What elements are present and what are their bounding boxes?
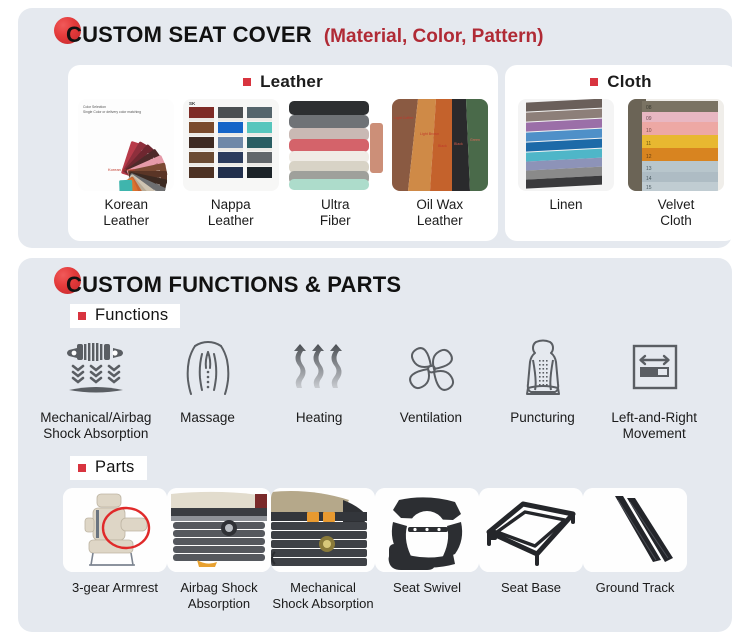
cloth-items-list: Linen 08 09 10 11 12 bbox=[505, 99, 737, 229]
functions-list: Mechanical/Airbag Shock Absorption bbox=[18, 328, 732, 442]
page-title: CUSTOM SEAT COVER bbox=[66, 22, 312, 48]
svg-text:Color Selection: Color Selection bbox=[83, 105, 106, 109]
list-item[interactable]: Linen bbox=[515, 99, 617, 229]
red-square-bullet-icon bbox=[590, 78, 598, 86]
red-square-bullet-icon bbox=[78, 464, 86, 472]
svg-text:09: 09 bbox=[646, 116, 652, 122]
function-item-heating[interactable]: Heating bbox=[263, 338, 375, 442]
leather-items-list: 01 02 03 04 05 06 07 08 09 10 13 bbox=[68, 99, 498, 229]
label-line-1: Linen bbox=[549, 197, 582, 212]
label-line-1: Ground Track bbox=[596, 580, 675, 595]
list-item-label: Oil Wax Leather bbox=[416, 197, 463, 229]
svg-text:Light Coffee: Light Coffee bbox=[394, 116, 413, 120]
custom-seat-cover-panel: CUSTOM SEAT COVER (Material, Color, Patt… bbox=[18, 8, 732, 248]
label-line-1: Airbag Shock bbox=[180, 580, 257, 595]
part-item-seat-swivel[interactable]: Seat Swivel bbox=[375, 488, 479, 611]
cloth-group-label: Cloth bbox=[607, 72, 651, 92]
label-line-2: Shock Absorption bbox=[43, 426, 148, 441]
label-line-1: Mechanical/Airbag bbox=[40, 410, 151, 425]
function-item-puncturing[interactable]: Puncturing bbox=[487, 338, 599, 442]
label-line-2: Fiber bbox=[320, 213, 351, 228]
custom-functions-parts-panel: CUSTOM FUNCTIONS & PARTS Functions bbox=[18, 258, 732, 632]
part-item-label: Mechanical Shock Absorption bbox=[272, 580, 373, 611]
label-line-1: Puncturing bbox=[510, 410, 575, 425]
nappa-leather-thumbnail[interactable]: SK bbox=[183, 99, 279, 191]
label-line-1: Left-and-Right bbox=[611, 410, 697, 425]
massage-back-icon bbox=[171, 338, 245, 400]
part-item-label: Ground Track bbox=[596, 580, 675, 596]
label-line-2: Cloth bbox=[660, 213, 692, 228]
label-line-1: Heating bbox=[296, 410, 343, 425]
list-item-label: Linen bbox=[549, 197, 582, 213]
label-line-1: Massage bbox=[180, 410, 235, 425]
function-item-label: Puncturing bbox=[510, 410, 575, 426]
label-line-1: Seat Swivel bbox=[393, 580, 461, 595]
leather-group-header: Leather bbox=[68, 65, 498, 99]
svg-text:13: 13 bbox=[646, 166, 652, 172]
fan-icon bbox=[394, 338, 468, 400]
parts-chip: Parts bbox=[70, 456, 147, 480]
label-line-1: 3-gear Armrest bbox=[72, 580, 158, 595]
shock-absorber-icon bbox=[59, 338, 133, 400]
svg-text:12: 12 bbox=[646, 154, 652, 160]
label-line-1: Oil Wax bbox=[416, 197, 463, 212]
label-line-1: Nappa bbox=[211, 197, 251, 212]
airbag-shock-thumbnail[interactable] bbox=[167, 488, 271, 572]
function-item-label: Heating bbox=[296, 410, 343, 426]
functions-label: Functions bbox=[95, 306, 168, 325]
svg-text:08: 08 bbox=[646, 105, 652, 111]
label-line-2: Leather bbox=[103, 213, 149, 228]
label-line-2: Leather bbox=[208, 213, 254, 228]
list-item-label: Velvet Cloth bbox=[658, 197, 695, 229]
svg-text:10: 10 bbox=[646, 128, 652, 134]
function-item-shock-absorption[interactable]: Mechanical/Airbag Shock Absorption bbox=[40, 338, 152, 442]
functions-chip: Functions bbox=[70, 304, 180, 328]
label-line-2: Absorption bbox=[188, 596, 250, 611]
oil-wax-leather-thumbnail[interactable]: Light Coffee Light Brown Black Black Gre… bbox=[392, 99, 488, 191]
list-item[interactable]: Ultra Fiber bbox=[284, 99, 386, 229]
cloth-group-card: Cloth bbox=[505, 65, 737, 241]
linen-thumbnail[interactable] bbox=[518, 99, 614, 191]
label-line-1: Mechanical bbox=[290, 580, 356, 595]
part-item-label: 3-gear Armrest bbox=[72, 580, 158, 596]
korean-leather-thumbnail[interactable]: 01 02 03 04 05 06 07 08 09 10 13 bbox=[78, 99, 174, 191]
label-line-2: Shock Absorption bbox=[272, 596, 373, 611]
label-line-1: Ultra bbox=[321, 197, 350, 212]
part-item-ground-track[interactable]: Ground Track bbox=[583, 488, 687, 611]
svg-text:Single Color or delivery color: Single Color or delivery color matching bbox=[83, 110, 141, 114]
part-item-airbag-shock[interactable]: Airbag Shock Absorption bbox=[167, 488, 271, 611]
list-item-label: Korean Leather bbox=[103, 197, 149, 229]
red-square-bullet-icon bbox=[243, 78, 251, 86]
label-line-2: Movement bbox=[623, 426, 686, 441]
part-item-label: Seat Swivel bbox=[393, 580, 461, 596]
heat-waves-icon bbox=[282, 338, 356, 400]
part-item-seat-base[interactable]: Seat Base bbox=[479, 488, 583, 611]
svg-text:Light Brown: Light Brown bbox=[420, 132, 439, 136]
part-item-armrest[interactable]: 3-gear Armrest bbox=[63, 488, 167, 611]
svg-text:11: 11 bbox=[646, 141, 651, 147]
function-item-label: Massage bbox=[180, 410, 235, 426]
seat-cover-section-header: CUSTOM SEAT COVER (Material, Color, Patt… bbox=[18, 8, 732, 48]
red-square-bullet-icon bbox=[78, 312, 86, 320]
list-item[interactable]: 01 02 03 04 05 06 07 08 09 10 13 bbox=[75, 99, 177, 229]
ground-track-thumbnail[interactable] bbox=[583, 488, 687, 572]
mechanical-shock-thumbnail[interactable] bbox=[271, 488, 375, 572]
left-right-arrow-icon bbox=[617, 338, 691, 400]
svg-text:Black: Black bbox=[454, 142, 463, 146]
svg-text:15: 15 bbox=[646, 185, 652, 191]
list-item[interactable]: 08 09 10 11 12 13 14 15 Ve bbox=[625, 99, 727, 229]
label-line-1: Velvet bbox=[658, 197, 695, 212]
function-item-massage[interactable]: Massage bbox=[152, 338, 264, 442]
velvet-cloth-thumbnail[interactable]: 08 09 10 11 12 13 14 15 bbox=[628, 99, 724, 191]
functions-subheader: Functions bbox=[18, 304, 732, 328]
page-subtitle: (Material, Color, Pattern) bbox=[324, 26, 544, 48]
label-line-1: Seat Base bbox=[501, 580, 561, 595]
parts-label: Parts bbox=[95, 458, 135, 477]
ultra-fiber-thumbnail[interactable] bbox=[287, 99, 383, 191]
svg-text:Green: Green bbox=[470, 138, 480, 142]
parts-list: 3-gear Armrest bbox=[18, 480, 732, 611]
leather-group-label: Leather bbox=[260, 72, 323, 92]
function-item-left-right-movement[interactable]: Left-and-Right Movement bbox=[598, 338, 710, 442]
part-item-label: Airbag Shock Absorption bbox=[180, 580, 257, 611]
label-line-2: Leather bbox=[417, 213, 463, 228]
svg-text:14: 14 bbox=[646, 176, 652, 182]
parts-subheader: Parts bbox=[18, 456, 732, 480]
cloth-group-header: Cloth bbox=[505, 65, 737, 99]
function-item-ventilation[interactable]: Ventilation bbox=[375, 338, 487, 442]
function-item-label: Left-and-Right Movement bbox=[611, 410, 697, 442]
list-item-label: Ultra Fiber bbox=[320, 197, 351, 229]
page-root: CUSTOM SEAT COVER (Material, Color, Patt… bbox=[0, 0, 750, 640]
leather-group-card: Leather 01 02 03 04 05 06 bbox=[68, 65, 498, 241]
svg-text:Black: Black bbox=[438, 144, 447, 148]
function-item-label: Ventilation bbox=[400, 410, 462, 426]
label-line-1: Ventilation bbox=[400, 410, 462, 425]
label-line-1: Korean bbox=[104, 197, 148, 212]
armrest-thumbnail[interactable] bbox=[63, 488, 167, 572]
functions-parts-section-header: CUSTOM FUNCTIONS & PARTS bbox=[18, 258, 732, 298]
svg-text:SK: SK bbox=[189, 101, 196, 106]
part-item-label: Seat Base bbox=[501, 580, 561, 596]
perforated-seat-icon bbox=[506, 338, 580, 400]
page-title: CUSTOM FUNCTIONS & PARTS bbox=[66, 272, 401, 298]
seat-swivel-thumbnail[interactable] bbox=[375, 488, 479, 572]
seat-base-thumbnail[interactable] bbox=[479, 488, 583, 572]
list-item-label: Nappa Leather bbox=[208, 197, 254, 229]
function-item-label: Mechanical/Airbag Shock Absorption bbox=[40, 410, 151, 442]
svg-text:Korean Leather: Korean Leather bbox=[108, 167, 136, 172]
part-item-mechanical-shock[interactable]: Mechanical Shock Absorption bbox=[271, 488, 375, 611]
list-item[interactable]: Light Coffee Light Brown Black Black Gre… bbox=[389, 99, 491, 229]
list-item[interactable]: SK Nappa Leather bbox=[180, 99, 282, 229]
